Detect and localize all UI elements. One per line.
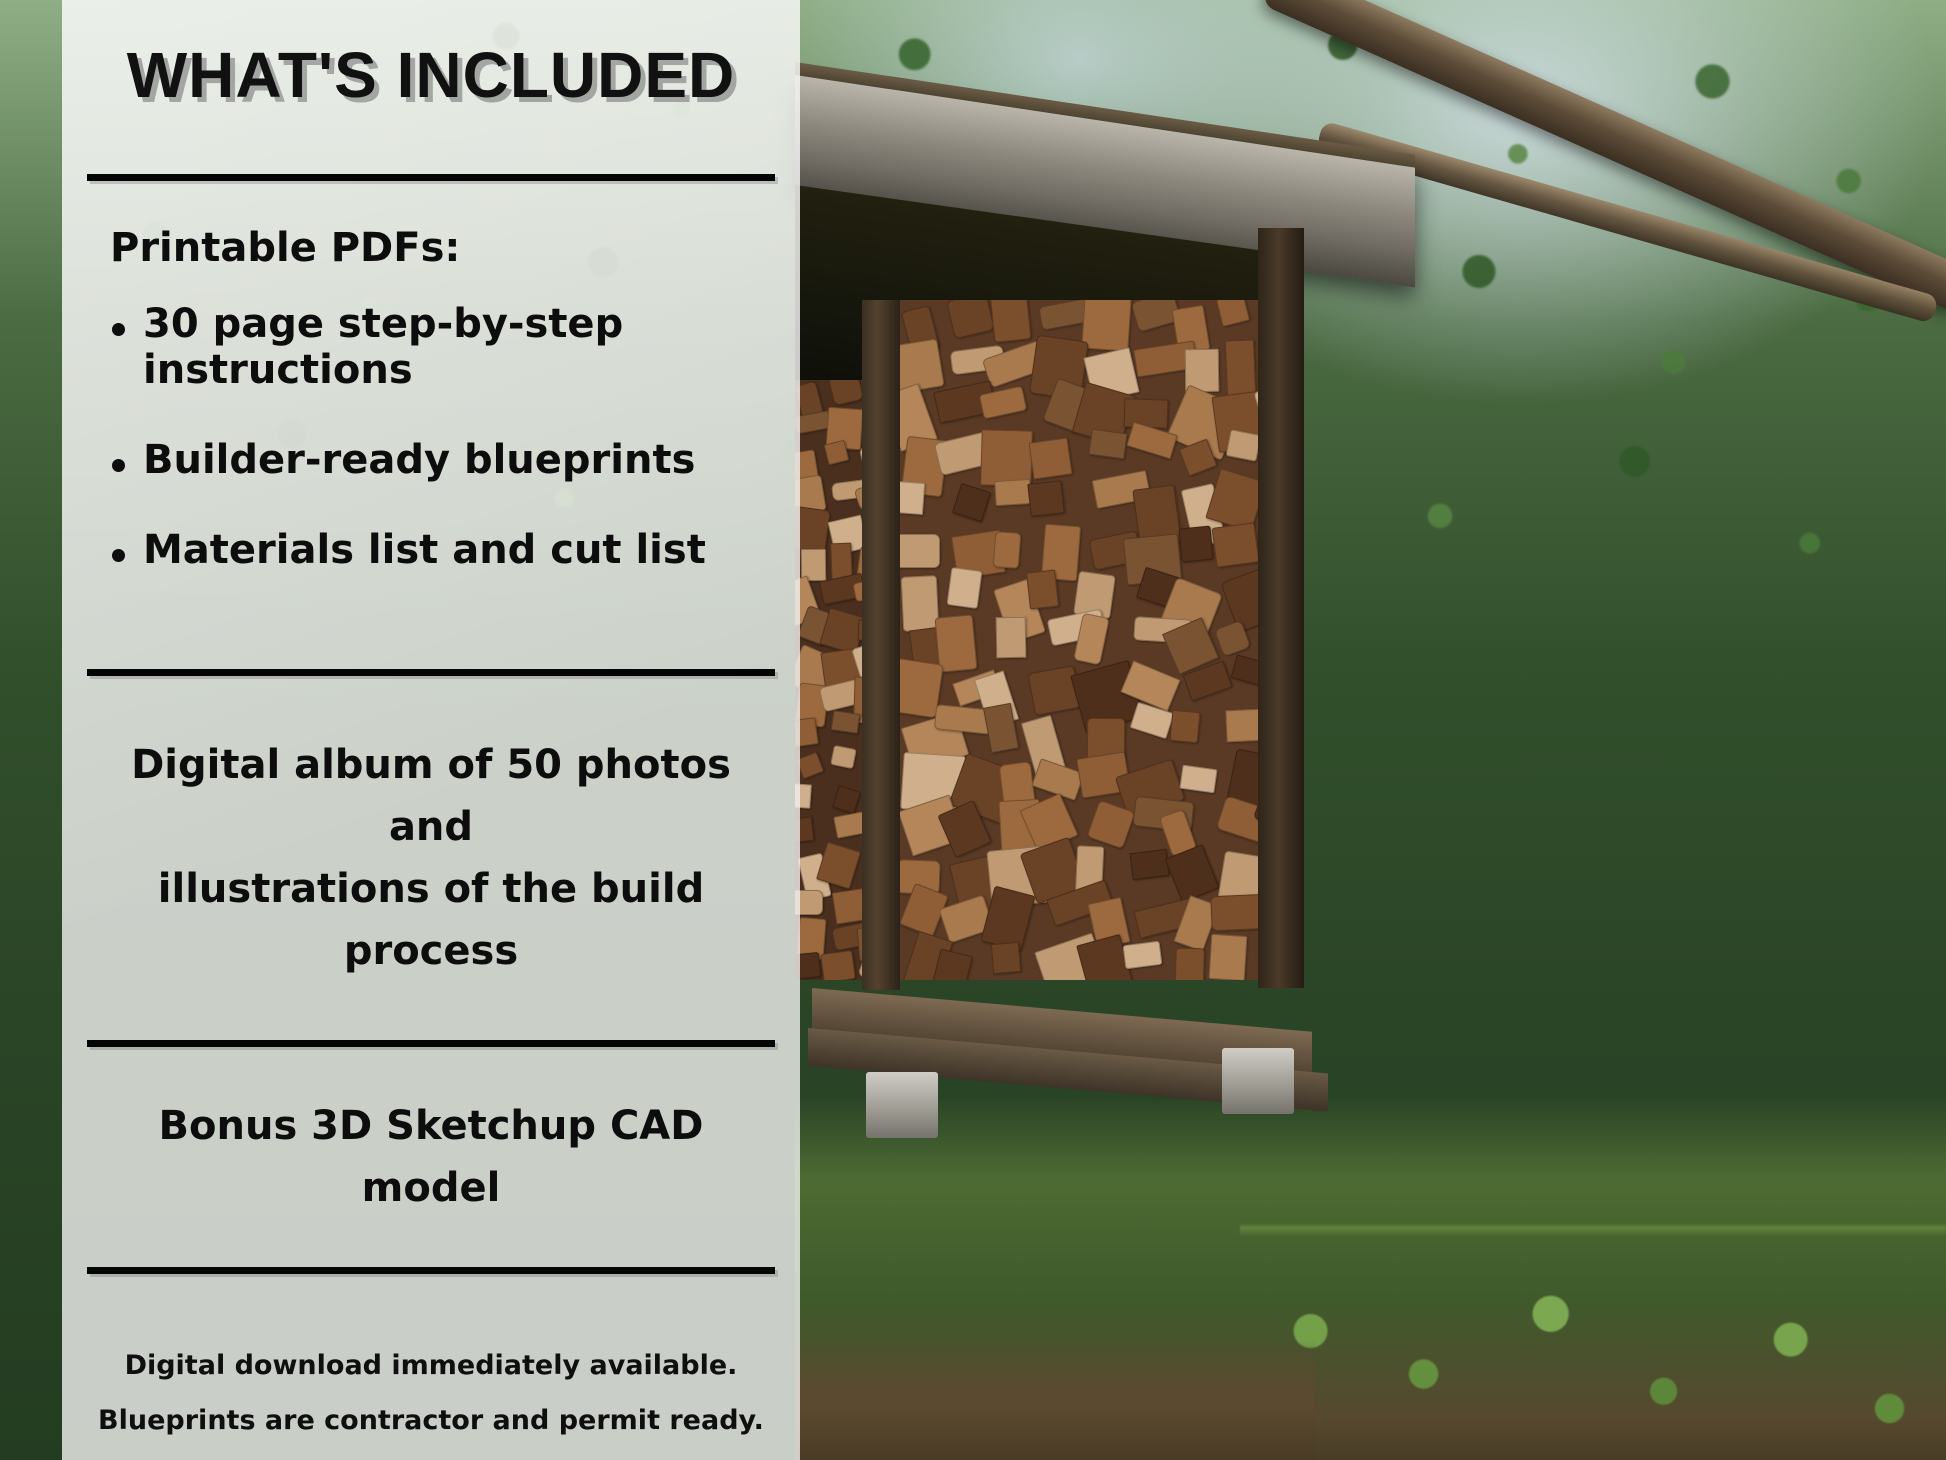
- bullet-dot-icon: [112, 459, 125, 472]
- bullet-dot-icon: [112, 323, 125, 336]
- bullet-dot-icon: [112, 549, 125, 562]
- dirt-path: [795, 1340, 1315, 1460]
- grass-tufts: [1240, 1030, 1946, 1460]
- digital-album-line-2: illustrations of the build process: [101, 858, 761, 982]
- footer-line-1: Digital download immediately available.: [86, 1338, 776, 1393]
- spacer: [86, 617, 776, 669]
- divider-2: [87, 669, 775, 676]
- page-title: WHAT'S INCLUDED: [86, 0, 776, 112]
- digital-album-text: Digital album of 50 photos and illustrat…: [101, 734, 761, 982]
- list-item-label: Materials list and cut list: [143, 527, 706, 573]
- firewood-stack-rear: [795, 380, 867, 980]
- list-item: Materials list and cut list: [86, 527, 776, 573]
- divider-3: [87, 1040, 775, 1047]
- footer-line-3: Refunds available, for whatever reason. …: [86, 1449, 776, 1460]
- digital-album-line-1: Digital album of 50 photos and: [101, 734, 761, 858]
- footer-line-2: Blueprints are contractor and permit rea…: [86, 1393, 776, 1448]
- concrete-pier-right: [1222, 1048, 1294, 1114]
- spacer: [86, 982, 776, 1040]
- bonus-cad-model-text: Bonus 3D Sketchup CAD model: [101, 1095, 761, 1219]
- shed-post-right: [1258, 228, 1304, 988]
- spacer: [86, 1047, 776, 1095]
- list-item: 30 page step-by-step instructions: [86, 301, 776, 393]
- list-item-label: Builder-ready blueprints: [143, 437, 695, 483]
- features-list: 30 page step-by-step instructions Builde…: [86, 301, 776, 573]
- spacer: [86, 1219, 776, 1267]
- firewood-stack-main: [898, 300, 1263, 980]
- concrete-pier-left: [866, 1072, 938, 1138]
- divider-4: [87, 1267, 775, 1274]
- poster-canvas: WHAT'S INCLUDED Printable PDFs: 30 page …: [0, 0, 1946, 1460]
- shed-post-left: [862, 300, 900, 990]
- list-item: Builder-ready blueprints: [86, 437, 776, 483]
- info-panel: WHAT'S INCLUDED Printable PDFs: 30 page …: [62, 0, 800, 1460]
- list-item-label: 30 page step-by-step instructions: [143, 301, 776, 393]
- section-heading-printable-pdfs: Printable PDFs:: [110, 225, 776, 271]
- footer-fine-print: Digital download immediately available. …: [86, 1338, 776, 1460]
- spacer: [86, 676, 776, 734]
- divider-1: [87, 174, 775, 181]
